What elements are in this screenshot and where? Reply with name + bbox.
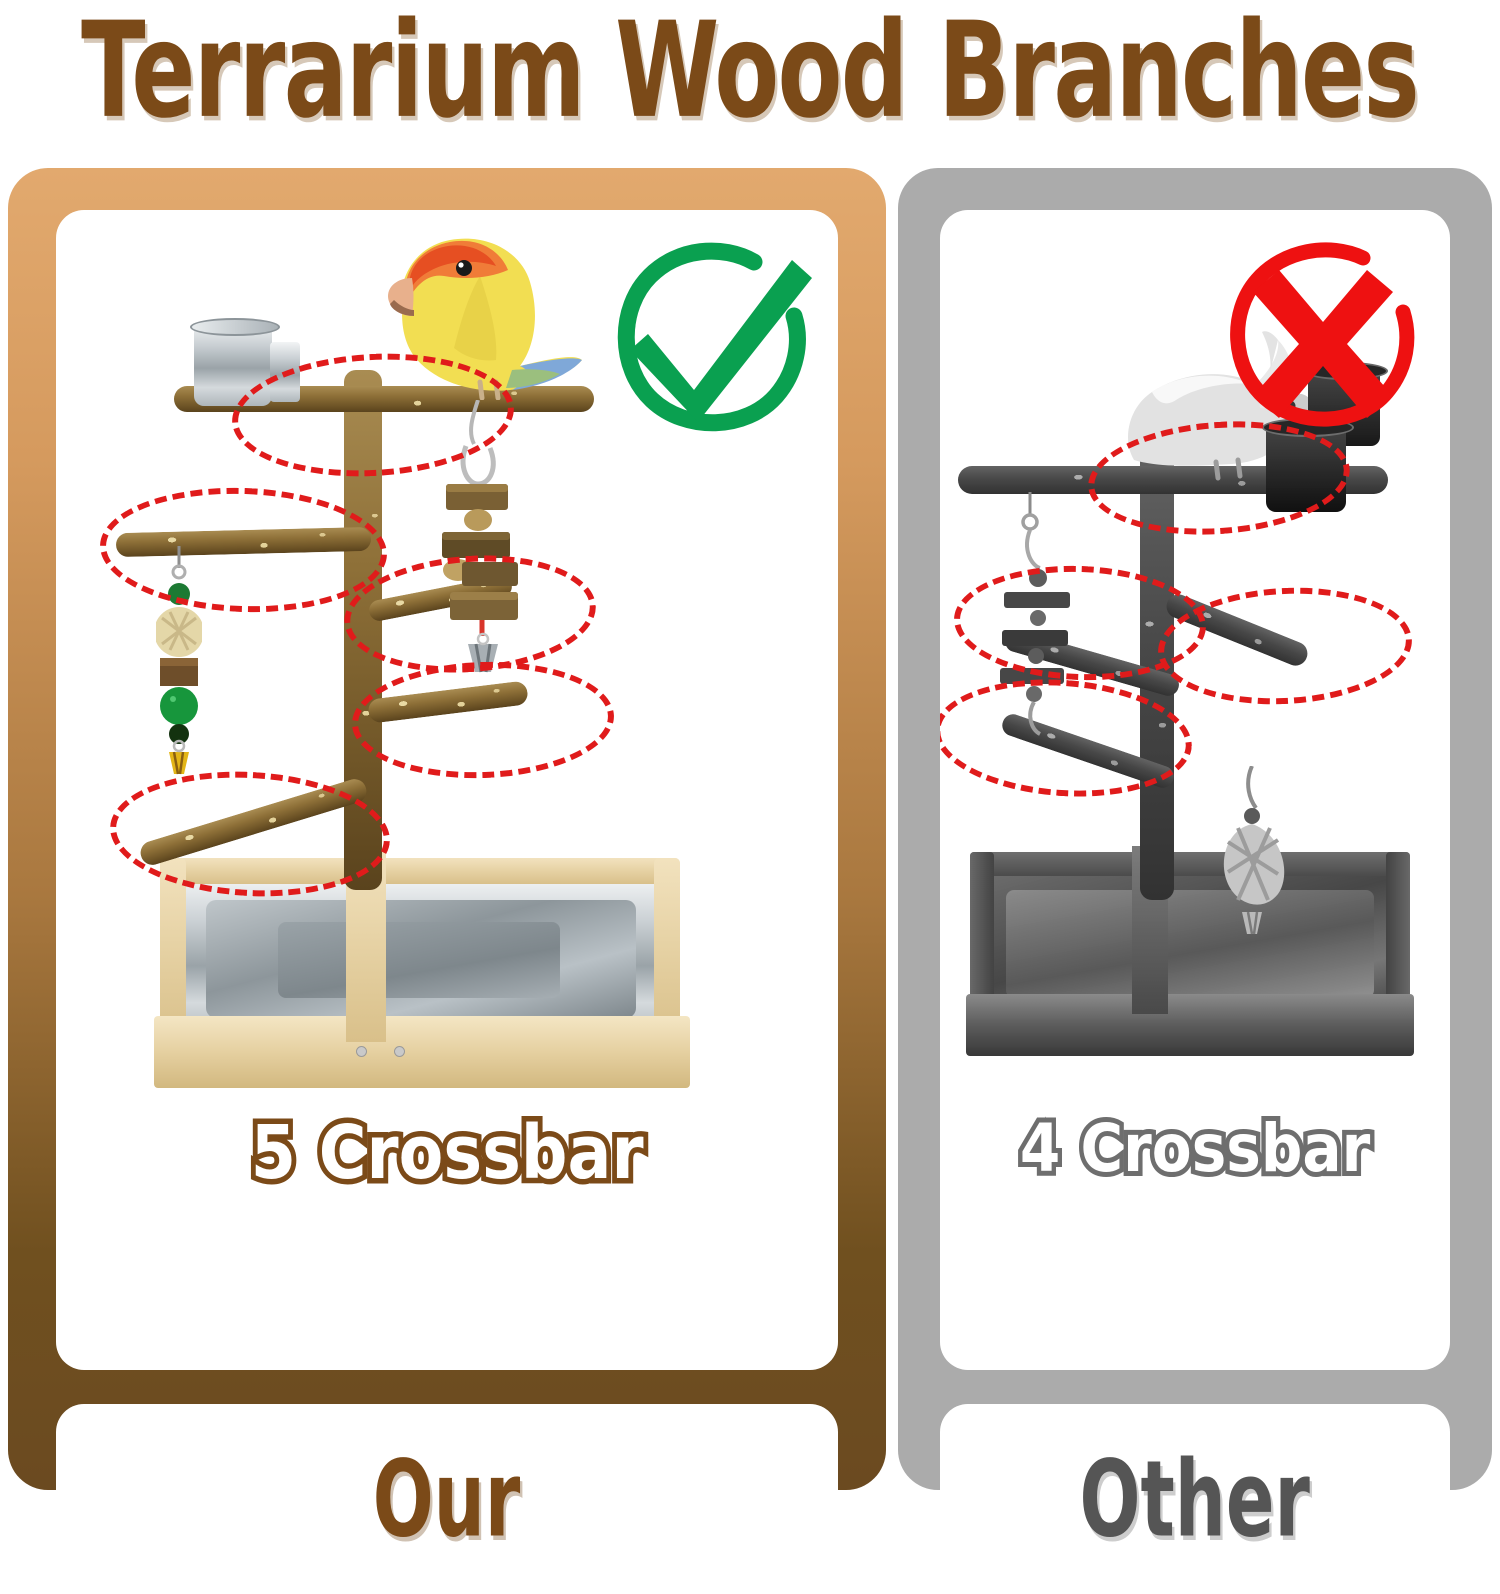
hanging-woven-ball-toy xyxy=(1212,766,1292,956)
base-front-rail xyxy=(154,1016,690,1088)
other-base-left-rail xyxy=(970,852,994,1010)
other-crossbar-caption: 4 Crossbar xyxy=(940,1110,1450,1187)
other-label: Other xyxy=(940,1404,1450,1594)
title-bar: Terrarium Wood Branches xyxy=(0,0,1500,140)
our-label: Our xyxy=(56,1404,838,1594)
other-base-back-rail xyxy=(970,852,1410,876)
cup-rim xyxy=(190,318,280,336)
steel-tray-recess xyxy=(278,922,560,998)
annotation-ellipse-4 xyxy=(350,657,616,782)
our-label-card: Our xyxy=(56,1404,838,1594)
other-product-panel: 4 Crossbar Other xyxy=(898,168,1492,1490)
other-label-card: Other xyxy=(940,1404,1450,1594)
base-screw-right xyxy=(394,1046,405,1057)
other-product-photo-card: 4 Crossbar xyxy=(940,210,1450,1370)
base-screw-left xyxy=(356,1046,367,1057)
base-right-rail xyxy=(654,858,680,1038)
check-circle-icon xyxy=(606,238,816,448)
cross-circle-icon xyxy=(1221,240,1426,445)
other-product-photo: 4 Crossbar xyxy=(940,210,1450,1370)
page-title: Terrarium Wood Branches xyxy=(82,3,1419,137)
our-product-panel: 5 Crossbar Our xyxy=(8,168,886,1490)
other-base-front-rail xyxy=(966,994,1414,1056)
other-base-right-rail xyxy=(1386,852,1410,1010)
our-product-photo: 5 Crossbar xyxy=(56,210,838,1370)
our-crossbar-caption: 5 Crossbar xyxy=(56,1110,838,1196)
our-product-photo-card: 5 Crossbar xyxy=(56,210,838,1370)
other-steel-tray-inner xyxy=(1006,890,1374,998)
